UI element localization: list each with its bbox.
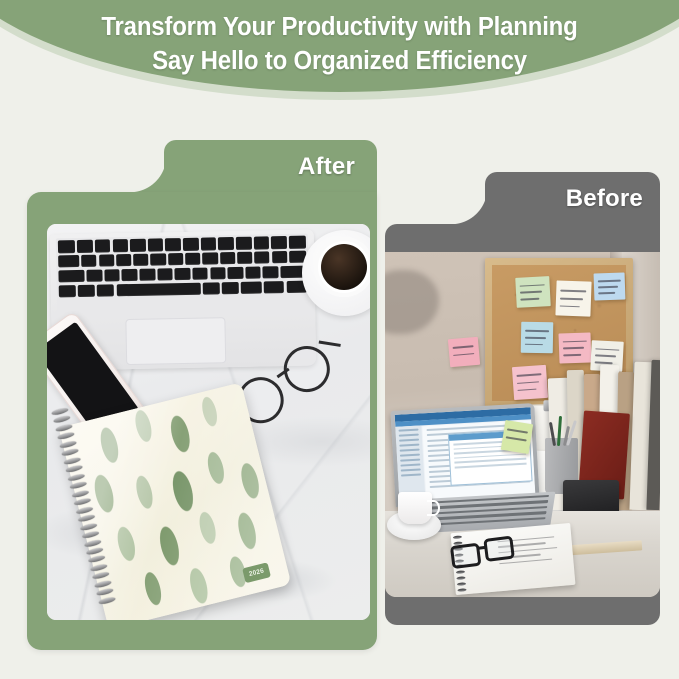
spiral-coil [67, 473, 85, 482]
keyboard-key [87, 269, 103, 282]
spiral-coil [80, 522, 98, 531]
keyboard-key [228, 267, 244, 280]
note-scribble [525, 344, 543, 346]
note-scribble [453, 353, 474, 356]
headline-line-2: Say Hello to Organized Efficiency [20, 45, 658, 79]
keyboard-keys [56, 234, 309, 315]
before-tab-row: Before [385, 172, 660, 224]
keyboard-key [245, 266, 261, 279]
keyboard-key [201, 237, 217, 250]
keyboard-key [202, 282, 219, 295]
keyboard-key [241, 281, 262, 294]
note-scribble [560, 298, 583, 300]
keyboard-key [97, 284, 114, 297]
keyboard-key [157, 268, 173, 281]
spiral-coil [55, 423, 73, 432]
spiral-coil [94, 580, 112, 589]
after-tab-row: After [27, 140, 377, 192]
note-scribble [520, 284, 545, 287]
keyboard-key [263, 281, 284, 294]
keyboard-key [116, 254, 131, 267]
keyboard-key [139, 268, 155, 281]
spiral-coil [88, 555, 106, 564]
before-panel: Before [385, 172, 660, 625]
note-scribble [598, 286, 618, 288]
headline-line-1: Transform Your Productivity with Plannin… [20, 11, 658, 45]
sticky-note [515, 276, 550, 308]
note-scribble [598, 292, 615, 294]
keyboard-key [165, 238, 181, 251]
keyboard-key [210, 267, 226, 280]
keyboard-key [220, 252, 235, 265]
keyboard-key [104, 269, 120, 282]
note-scribble [563, 340, 587, 342]
keyboard-key [272, 251, 287, 264]
keyboard-key [289, 236, 306, 249]
after-photo: 2026 [47, 224, 370, 620]
spiral-coil [59, 440, 77, 449]
before-lens-right [483, 536, 515, 562]
keyboard-key [237, 252, 252, 265]
after-tab-notch [130, 156, 166, 192]
note-scribble [563, 347, 584, 349]
spiral-coil [76, 506, 94, 515]
header-headline: Transform Your Productivity with Plannin… [20, 11, 658, 79]
note-scribble [560, 306, 580, 308]
spiral-coil [65, 465, 83, 474]
keyboard-key [271, 236, 287, 249]
note-scribble [563, 354, 581, 356]
keyboard-key [148, 238, 164, 251]
note-scribble [452, 346, 473, 349]
keyboard-key [77, 240, 93, 253]
sticky-note [593, 273, 625, 301]
spiral-coil [53, 415, 71, 424]
keyboard-key [168, 253, 183, 266]
spiral-coil [84, 539, 102, 548]
keyboard-key [112, 239, 128, 252]
sticky-note [521, 322, 554, 354]
spiral-coil [63, 456, 81, 465]
keyboard-key [116, 282, 200, 296]
keyboard-key [185, 253, 200, 266]
note-scribble [517, 381, 539, 384]
before-tab-notch [451, 188, 487, 224]
keyboard-key [59, 285, 76, 298]
note-scribble [561, 290, 587, 292]
sticky-note [558, 332, 591, 363]
note-scribble [595, 348, 619, 351]
keyboard-key [254, 236, 270, 249]
after-panel: After 20 [27, 140, 377, 650]
coffee-liquid [321, 244, 367, 290]
keyboard-key [183, 238, 199, 251]
sticky-note [512, 364, 548, 399]
spiral-coil [74, 497, 92, 506]
keyboard-key [236, 237, 252, 250]
spiral-coil [82, 530, 100, 539]
spiral-coil [86, 547, 104, 556]
before-photo [385, 252, 660, 597]
spiral-coil [96, 588, 114, 597]
note-scribble [525, 330, 549, 332]
keyboard-key [175, 268, 191, 281]
sticky-note-wall [448, 337, 480, 368]
keyboard-key [58, 240, 75, 253]
header-banner: Transform Your Productivity with Plannin… [0, 0, 679, 112]
spiral-coil [70, 481, 88, 490]
sticky-note-on-screen [501, 420, 533, 454]
keyboard-key [192, 267, 208, 280]
keyboard-key [78, 284, 95, 297]
note-scribble [520, 291, 542, 294]
spiral-coil [90, 563, 108, 572]
note-scribble [507, 429, 527, 434]
keyboard-key [218, 237, 234, 250]
note-scribble [595, 355, 616, 358]
spiral-coil [72, 489, 90, 498]
spiral-coil [78, 514, 96, 523]
keyboard-key [254, 251, 269, 264]
spiral-coil [92, 571, 110, 580]
keyboard-key [151, 253, 166, 266]
note-scribble [517, 373, 542, 376]
after-panel-body: 2026 [27, 192, 377, 650]
keyboard-key [99, 254, 114, 267]
keyboard-key [222, 282, 239, 295]
sticky-note [556, 281, 592, 318]
eyeglasses-temple [319, 341, 341, 347]
after-tab-label: After [298, 140, 355, 192]
spiral-coil [57, 432, 75, 441]
before-panel-body [385, 224, 660, 625]
keyboard-key [122, 269, 138, 282]
spiral-coil [61, 448, 79, 457]
keyboard-key [81, 255, 96, 268]
note-scribble [518, 388, 537, 391]
keyboard-key [58, 255, 79, 268]
before-coffee-cup [398, 492, 432, 524]
note-scribble [525, 337, 546, 339]
coffee-cup [314, 237, 370, 297]
keyboard-key [58, 270, 84, 283]
trackpad [125, 317, 226, 365]
keyboard-key [95, 239, 111, 252]
keyboard-row [59, 280, 307, 297]
note-scribble [520, 298, 539, 301]
keyboard-key [133, 254, 148, 267]
note-scribble [597, 280, 620, 282]
keyboard-key [202, 252, 217, 265]
before-tab-label: Before [566, 172, 643, 224]
note-scribble [506, 437, 526, 442]
before-lens-left [450, 543, 482, 569]
keyboard-key [263, 266, 279, 279]
keyboard-key [130, 239, 146, 252]
